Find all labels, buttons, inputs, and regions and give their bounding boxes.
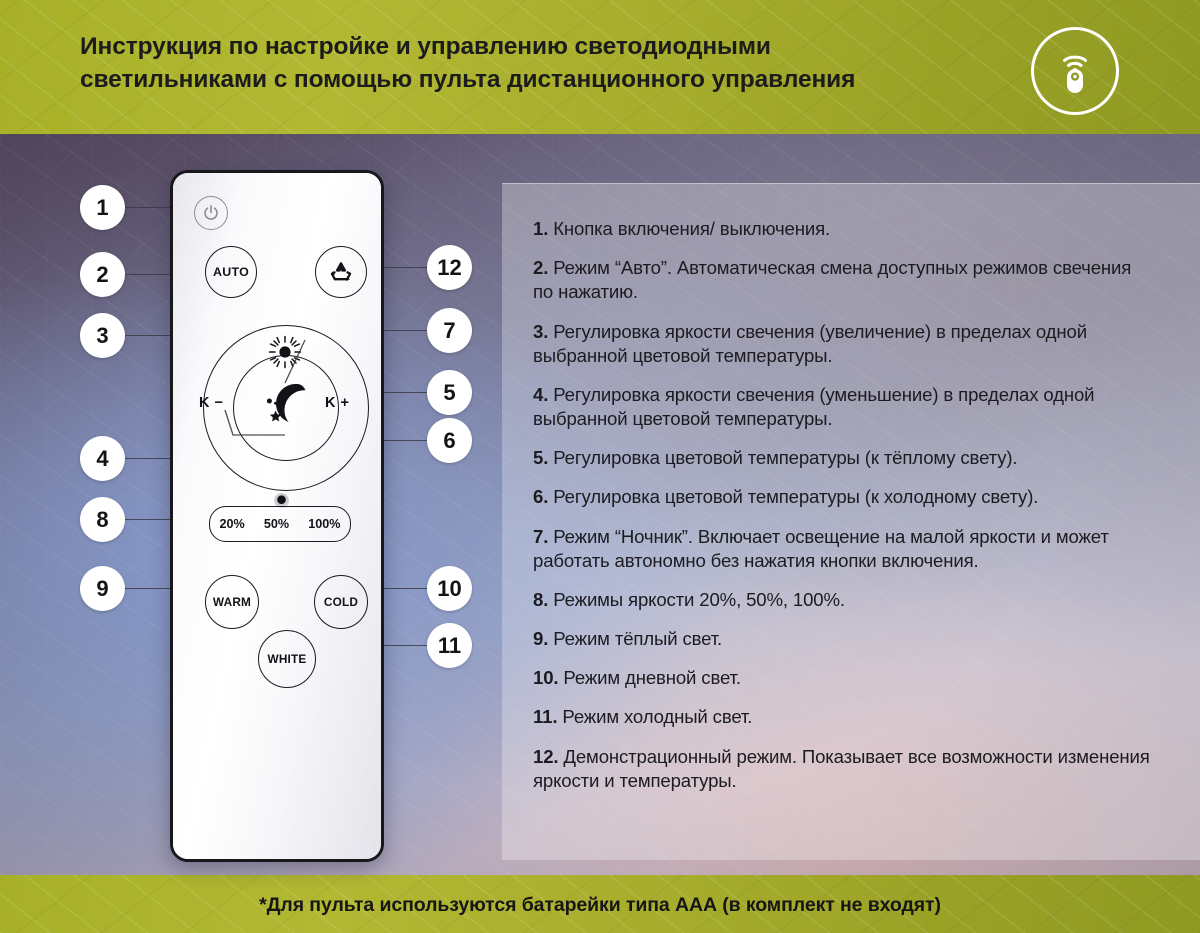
moon-stars-night-icon[interactable] bbox=[257, 379, 313, 435]
remote-control-wireless-icon bbox=[1031, 27, 1119, 115]
instruction-item: 8. Режимы яркости 20%, 50%, 100%. bbox=[533, 588, 1155, 612]
callout-12: 12 bbox=[427, 245, 472, 290]
instruction-item: 5. Регулировка цветовой температуры (к т… bbox=[533, 446, 1155, 470]
instruction-item: 1. Кнопка включения/ выключения. bbox=[533, 217, 1155, 241]
remote-body-surface: AUTO bbox=[173, 173, 381, 859]
instruction-number: 11. bbox=[533, 706, 557, 727]
instruction-text: Демонстрационный режим. Показывает все в… bbox=[533, 746, 1150, 791]
callout-2: 2 bbox=[80, 252, 125, 297]
instruction-number: 10. bbox=[533, 667, 558, 688]
callout-3: 3 bbox=[80, 313, 125, 358]
warm-light-button[interactable]: WARM bbox=[205, 575, 259, 629]
instruction-text: Регулировка цветовой температуры (к холо… bbox=[548, 486, 1038, 507]
brightness-step-50[interactable]: 50% bbox=[264, 517, 289, 531]
callout-6: 6 bbox=[427, 418, 472, 463]
instruction-item: 10. Режим дневной свет. bbox=[533, 666, 1155, 690]
brightness-step-100[interactable]: 100% bbox=[308, 517, 340, 531]
callout-10: 10 bbox=[427, 566, 472, 611]
cold-light-button[interactable]: COLD bbox=[314, 575, 368, 629]
recycle-icon[interactable] bbox=[315, 246, 367, 298]
instruction-item: 7. Режим “Ночник”. Включает освещение на… bbox=[533, 525, 1155, 573]
page-title-line-1: Инструкция по настройке и управлению све… bbox=[80, 30, 980, 63]
instruction-number: 8. bbox=[533, 589, 548, 610]
page-title: Инструкция по настройке и управлению све… bbox=[80, 30, 980, 97]
instruction-number: 3. bbox=[533, 321, 548, 342]
instruction-text: Кнопка включения/ выключения. bbox=[548, 218, 830, 239]
instruction-text: Регулировка цветовой температуры (к тёпл… bbox=[548, 447, 1017, 468]
callout-7: 7 bbox=[427, 308, 472, 353]
instruction-item: 11. Режим холодный свет. bbox=[533, 705, 1155, 729]
callout-11: 11 bbox=[427, 623, 472, 668]
color-temp-decrease-label[interactable]: K − bbox=[199, 395, 223, 411]
instruction-number: 5. bbox=[533, 447, 548, 468]
battery-note: *Для пульта используются батарейки типа … bbox=[0, 894, 1200, 917]
instruction-item: 12. Демонстрационный режим. Показывает в… bbox=[533, 745, 1155, 793]
instruction-text: Режим дневной свет. bbox=[558, 667, 740, 688]
instruction-number: 2. bbox=[533, 257, 548, 278]
instructions-list: 1. Кнопка включения/ выключения.2. Режим… bbox=[533, 217, 1155, 808]
power-button[interactable] bbox=[194, 196, 228, 230]
auto-mode-button[interactable]: AUTO bbox=[205, 246, 257, 298]
instructions-panel: 1. Кнопка включения/ выключения.2. Режим… bbox=[502, 183, 1200, 860]
instruction-item: 3. Регулировка яркости свечения (увеличе… bbox=[533, 320, 1155, 368]
color-temp-increase-label[interactable]: K + bbox=[325, 395, 349, 411]
instruction-number: 4. bbox=[533, 384, 548, 405]
callout-8: 8 bbox=[80, 497, 125, 542]
instruction-text: Режим “Ночник”. Включает освещение на ма… bbox=[533, 526, 1109, 571]
instruction-text: Режим тёплый свет. bbox=[548, 628, 722, 649]
instruction-text: Режимы яркости 20%, 50%, 100%. bbox=[548, 589, 845, 610]
instruction-number: 1. bbox=[533, 218, 548, 239]
sun-brightness-icon[interactable] bbox=[267, 334, 303, 370]
remote-control-device: AUTO bbox=[170, 170, 384, 862]
callout-9: 9 bbox=[80, 566, 125, 611]
callout-5: 5 bbox=[427, 370, 472, 415]
instruction-item: 2. Режим “Авто”. Автоматическая смена до… bbox=[533, 256, 1155, 304]
callout-4: 4 bbox=[80, 436, 125, 481]
instruction-number: 7. bbox=[533, 526, 548, 547]
instruction-item: 6. Регулировка цветовой температуры (к х… bbox=[533, 485, 1155, 509]
instruction-number: 6. bbox=[533, 486, 548, 507]
white-light-button[interactable]: WHITE bbox=[258, 630, 316, 688]
instruction-text: Регулировка яркости свечения (увеличение… bbox=[533, 321, 1087, 366]
instruction-text: Режим холодный свет. bbox=[557, 706, 752, 727]
callout-1: 1 bbox=[80, 185, 125, 230]
infographic-page: Инструкция по настройке и управлению све… bbox=[0, 0, 1200, 933]
brightness-steps-pill[interactable]: 20% 50% 100% bbox=[209, 506, 351, 542]
brightness-step-20[interactable]: 20% bbox=[220, 517, 245, 531]
instruction-number: 9. bbox=[533, 628, 548, 649]
instruction-item: 9. Режим тёплый свет. bbox=[533, 627, 1155, 651]
instruction-text: Регулировка яркости свечения (уменьшение… bbox=[533, 384, 1094, 429]
instruction-item: 4. Регулировка яркости свечения (уменьше… bbox=[533, 383, 1155, 431]
instruction-text: Режим “Авто”. Автоматическая смена досту… bbox=[533, 257, 1131, 302]
instruction-number: 12. bbox=[533, 746, 558, 767]
page-title-line-2: светильниками с помощью пульта дистанцио… bbox=[80, 63, 980, 96]
